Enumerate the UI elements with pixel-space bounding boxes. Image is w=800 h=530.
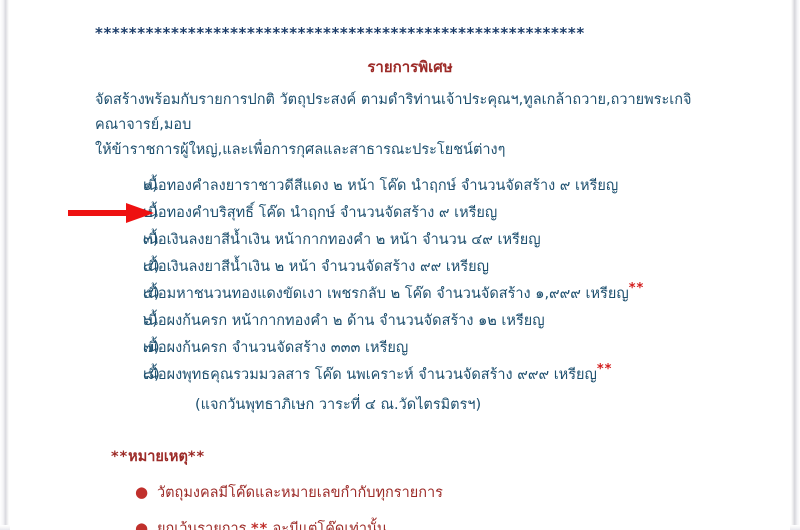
bullet-icon: ● — [135, 521, 157, 530]
list-item: ๖) เนื้อผงก้นครก หน้ากากทองคำ ๒ ด้าน จำน… — [95, 309, 725, 336]
page-right-edge — [791, 0, 800, 530]
document-body: ****************************************… — [95, 26, 725, 530]
special-items-list: ๑) เนื้อทองคำลงยาราชาวดีสีแดง ๒ หน้า โค๊… — [95, 174, 725, 390]
list-item-number: ๓) — [95, 233, 143, 248]
list-item-number: ๒) — [95, 206, 143, 221]
list-item: ๒) เนื้อทองคำบริสุทธิ์ โค๊ด นำฤกษ์ จำนวน… — [95, 201, 725, 228]
item-star-marker: ** — [629, 281, 645, 296]
intro-paragraph: จัดสร้างพร้อมกับรายการปกติ วัตถุประสงค์ … — [95, 88, 725, 163]
list-item-number: ๕) — [95, 287, 143, 302]
list-item-text: เนื้อผงพุทธคุณรวมมวลสาร โค๊ด นพเคราะห์ จ… — [143, 363, 725, 382]
heading-stars-left: ** — [111, 449, 128, 465]
list-item-text: เนื้อทองคำบริสุทธิ์ โค๊ด นำฤกษ์ จำนวนจัด… — [143, 201, 725, 220]
ceremony-note: (แจกวันพุทธาภิเษก วาระที่ ๔ ณ.วัดไตรมิตร… — [95, 393, 725, 419]
document-screenshot: ****************************************… — [0, 0, 800, 530]
asterisk-divider: ****************************************… — [95, 26, 725, 46]
footnote-item: ● วัตถุมงคลมีโค๊ดและหมายเลขกำกับทุกรายกา… — [95, 481, 725, 504]
list-item-number: ๘) — [95, 368, 143, 383]
list-item-text: เนื้อผงก้นครก หน้ากากทองคำ ๒ ด้าน จำนวนจ… — [143, 309, 725, 328]
list-item-text: เนื้อเงินลงยาสีน้ำเงิน ๒ หน้า จำนวนจัดสร… — [143, 255, 725, 274]
list-item-text: เนื้อมหาชนวนทองแดงขัดเงา เพชรกลับ ๒ โค๊ด… — [143, 282, 725, 301]
footnotes-section: **หมายเหตุ** ● วัตถุมงคลมีโค๊ดและหมายเลข… — [95, 445, 725, 530]
list-item-number: ๖) — [95, 314, 143, 329]
page-title: รายการพิเศษ — [95, 55, 725, 79]
intro-line-1: จัดสร้างพร้อมกับรายการปกติ วัตถุประสงค์ … — [95, 88, 725, 138]
list-item-number: ๗) — [95, 341, 143, 356]
list-item-number: ๔) — [95, 260, 143, 275]
list-item-text: เนื้อทองคำลงยาราชาวดีสีแดง ๒ หน้า โค๊ด น… — [143, 174, 725, 193]
inline-star-marker: ** — [251, 521, 268, 530]
footnotes-heading: **หมายเหตุ** — [95, 445, 725, 468]
list-item: ๕) เนื้อมหาชนวนทองแดงขัดเงา เพชรกลับ ๒ โ… — [95, 282, 725, 309]
item-star-marker: ** — [597, 362, 613, 377]
footnote-text: วัตถุมงคลมีโค๊ดและหมายเลขกำกับทุกรายการ — [157, 481, 725, 504]
document-page: ****************************************… — [10, 0, 790, 530]
list-item-number: ๑) — [95, 179, 143, 194]
footnote-item: ● ยกเว้นรายการ ** จะมีแต่โค๊ดเท่านั้น — [95, 517, 725, 530]
footnote-text: ยกเว้นรายการ ** จะมีแต่โค๊ดเท่านั้น — [157, 517, 725, 530]
list-item: ๘) เนื้อผงพุทธคุณรวมมวลสาร โค๊ด นพเคราะห… — [95, 363, 725, 390]
list-item: ๑) เนื้อทองคำลงยาราชาวดีสีแดง ๒ หน้า โค๊… — [95, 174, 725, 201]
heading-label: หมายเหตุ — [128, 449, 188, 465]
heading-stars-right: ** — [188, 449, 205, 465]
intro-line-2: ให้ข้าราชการผู้ใหญ่,และเพื่อการกุศลและสา… — [95, 138, 725, 163]
bullet-icon: ● — [135, 485, 157, 500]
list-item: ๗) เนื้อผงก้นครก จำนวนจัดสร้าง ๓๓๓ เหรีย… — [95, 336, 725, 363]
list-item-text: เนื้อผงก้นครก จำนวนจัดสร้าง ๓๓๓ เหรียญ — [143, 336, 725, 355]
list-item: ๔) เนื้อเงินลงยาสีน้ำเงิน ๒ หน้า จำนวนจั… — [95, 255, 725, 282]
list-item-text: เนื้อเงินลงยาสีน้ำเงิน หน้ากากทองคำ ๒ หน… — [143, 228, 725, 247]
page-left-edge — [0, 0, 9, 530]
list-item-highlighted: ๓) เนื้อเงินลงยาสีน้ำเงิน หน้ากากทองคำ ๒… — [95, 228, 725, 255]
